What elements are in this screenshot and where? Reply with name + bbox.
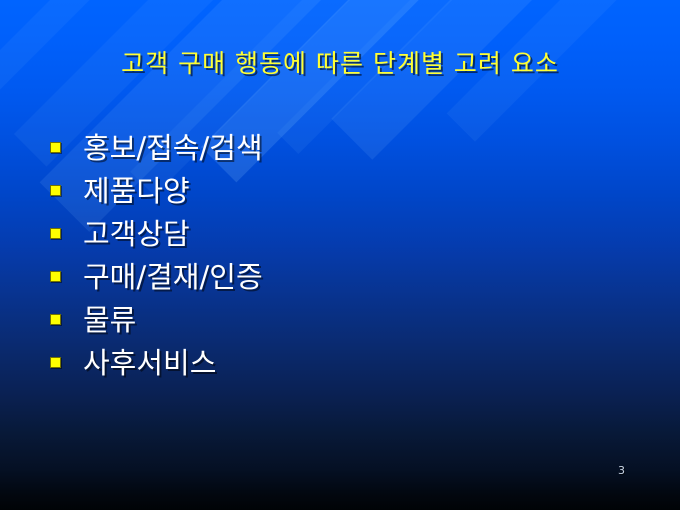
page-number: 3 [618,464,625,477]
presentation-slide: 고객 구매 행동에 따른 단계별 고려 요소 홍보/접속/검색 제품다양 고객상… [0,0,680,510]
list-item-label: 물류 [83,303,136,337]
list-item-label: 구매/결재/인증 [83,260,263,294]
list-item-label: 고객상담 [83,217,190,251]
list-item-label: 제품다양 [83,174,190,208]
list-item: 홍보/접속/검색 [50,126,630,169]
bullet-list: 홍보/접속/검색 제품다양 고객상담 구매/결재/인증 물류 사후서비스 [50,126,630,384]
bullet-square-icon [50,314,61,325]
list-item: 사후서비스 [50,341,630,384]
bullet-square-icon [50,228,61,239]
bullet-square-icon [50,142,61,153]
list-item: 고객상담 [50,212,630,255]
list-item-label: 홍보/접속/검색 [83,131,263,165]
bullet-square-icon [50,185,61,196]
list-item: 물류 [50,298,630,341]
list-item: 제품다양 [50,169,630,212]
bullet-square-icon [50,357,61,368]
bullet-square-icon [50,271,61,282]
list-item-label: 사후서비스 [83,346,216,380]
list-item: 구매/결재/인증 [50,255,630,298]
slide-title: 고객 구매 행동에 따른 단계별 고려 요소 [0,48,680,80]
